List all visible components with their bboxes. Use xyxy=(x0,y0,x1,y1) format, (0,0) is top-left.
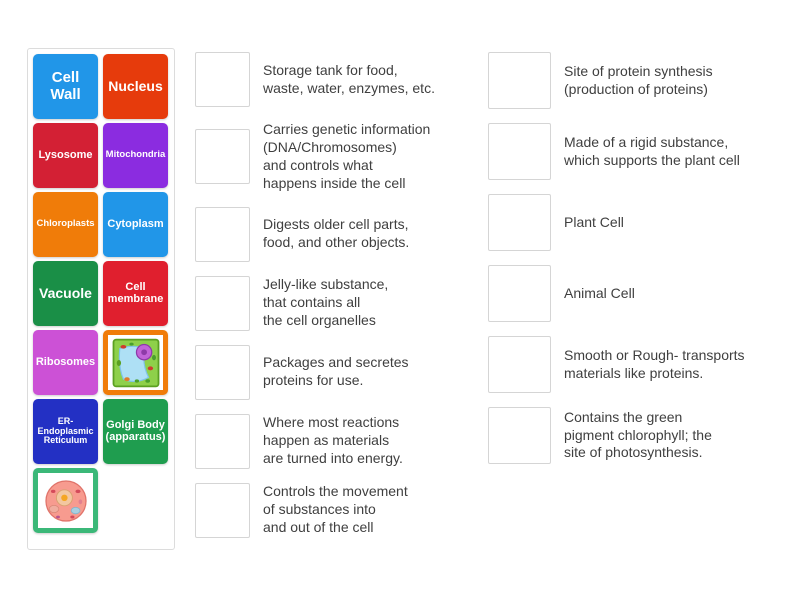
tile-grid: CellWallNucleusLysosomeMitochondriaChlor… xyxy=(33,54,170,533)
answer-middle-text: Controls the movement of substances into… xyxy=(263,483,408,537)
tile-label: Chloroplasts xyxy=(35,219,96,229)
answer-middle-row: Digests older cell parts, food, and othe… xyxy=(195,207,485,262)
tile-label: CellWall xyxy=(35,70,96,102)
answer-right-row: Site of protein synthesis (production of… xyxy=(488,52,788,109)
answer-right-text: Plant Cell xyxy=(564,214,624,232)
tile-label: Cytoplasm xyxy=(105,219,166,231)
plant-cell-icon xyxy=(108,335,163,390)
tile-cell-wall[interactable]: CellWall xyxy=(33,54,98,119)
answer-right-row: Plant Cell xyxy=(488,194,788,251)
tile-label: Golgi Body(apparatus) xyxy=(105,420,166,444)
animal-cell-icon xyxy=(38,473,93,528)
answer-middle-text: Digests older cell parts, food, and othe… xyxy=(263,216,409,252)
answer-right-drop-zone[interactable] xyxy=(488,336,551,393)
answer-middle-row: Carries genetic information (DNA/Chromos… xyxy=(195,121,485,193)
answer-middle-text: Storage tank for food, waste, water, enz… xyxy=(263,62,435,98)
tile-label: Nucleus xyxy=(105,79,166,94)
tile-cytoplasm[interactable]: Cytoplasm xyxy=(103,192,168,257)
tile-label: Cellmembrane xyxy=(105,282,166,306)
answer-right-text: Smooth or Rough- transports materials li… xyxy=(564,347,745,383)
answer-right-text: Site of protein synthesis (production of… xyxy=(564,63,713,99)
tile-mitochondria[interactable]: Mitochondria xyxy=(103,123,168,188)
tile-chloroplasts[interactable]: Chloroplasts xyxy=(33,192,98,257)
tile-animal-cell-diagram[interactable] xyxy=(33,468,98,533)
answer-middle-row: Controls the movement of substances into… xyxy=(195,483,485,538)
answer-middle-row: Where most reactions happen as materials… xyxy=(195,414,485,469)
answer-middle-drop-zone[interactable] xyxy=(195,414,250,469)
tile-label: Vacuole xyxy=(35,286,96,301)
answer-right-text: Contains the green pigment chlorophyll; … xyxy=(564,409,712,463)
tile-label: Ribosomes xyxy=(35,357,96,369)
answer-middle-drop-zone[interactable] xyxy=(195,129,250,184)
answer-middle-drop-zone[interactable] xyxy=(195,52,250,107)
answer-middle-row: Storage tank for food, waste, water, enz… xyxy=(195,52,485,107)
answer-middle-text: Carries genetic information (DNA/Chromos… xyxy=(263,121,430,193)
answer-right-drop-zone[interactable] xyxy=(488,265,551,322)
answer-column-middle: Storage tank for food, waste, water, enz… xyxy=(195,52,485,552)
answer-right-row: Made of a rigid substance, which support… xyxy=(488,123,788,180)
answer-right-row: Smooth or Rough- transports materials li… xyxy=(488,336,788,393)
answer-middle-text: Jelly-like substance, that contains all … xyxy=(263,276,388,330)
tile-cell-membrane[interactable]: Cellmembrane xyxy=(103,261,168,326)
tile-panel: CellWallNucleusLysosomeMitochondriaChlor… xyxy=(27,48,175,550)
answer-middle-drop-zone[interactable] xyxy=(195,483,250,538)
answer-middle-drop-zone[interactable] xyxy=(195,345,250,400)
answer-middle-drop-zone[interactable] xyxy=(195,276,250,331)
answer-right-drop-zone[interactable] xyxy=(488,52,551,109)
tile-vacuole[interactable]: Vacuole xyxy=(33,261,98,326)
answer-right-row: Animal Cell xyxy=(488,265,788,322)
answer-column-right: Site of protein synthesis (production of… xyxy=(488,52,788,478)
tile-label: ER-EndoplasmicReticulum xyxy=(35,417,96,446)
answer-middle-row: Packages and secretes proteins for use. xyxy=(195,345,485,400)
tile-lysosome[interactable]: Lysosome xyxy=(33,123,98,188)
tile-nucleus[interactable]: Nucleus xyxy=(103,54,168,119)
answer-right-drop-zone[interactable] xyxy=(488,194,551,251)
answer-middle-row: Jelly-like substance, that contains all … xyxy=(195,276,485,331)
tile-er-endoplasmic-reticulum[interactable]: ER-EndoplasmicReticulum xyxy=(33,399,98,464)
tile-label: Lysosome xyxy=(35,150,96,162)
tile-label: Mitochondria xyxy=(105,150,166,160)
answer-right-drop-zone[interactable] xyxy=(488,123,551,180)
answer-right-text: Made of a rigid substance, which support… xyxy=(564,134,740,170)
answer-middle-text: Where most reactions happen as materials… xyxy=(263,414,403,468)
activity-canvas: CellWallNucleusLysosomeMitochondriaChlor… xyxy=(0,0,800,600)
tile-plant-cell-diagram[interactable] xyxy=(103,330,168,395)
answer-middle-text: Packages and secretes proteins for use. xyxy=(263,354,409,390)
answer-right-row: Contains the green pigment chlorophyll; … xyxy=(488,407,788,464)
tile-ribosomes[interactable]: Ribosomes xyxy=(33,330,98,395)
answer-right-drop-zone[interactable] xyxy=(488,407,551,464)
answer-right-text: Animal Cell xyxy=(564,285,635,303)
tile-golgi-body-apparatus[interactable]: Golgi Body(apparatus) xyxy=(103,399,168,464)
answer-middle-drop-zone[interactable] xyxy=(195,207,250,262)
